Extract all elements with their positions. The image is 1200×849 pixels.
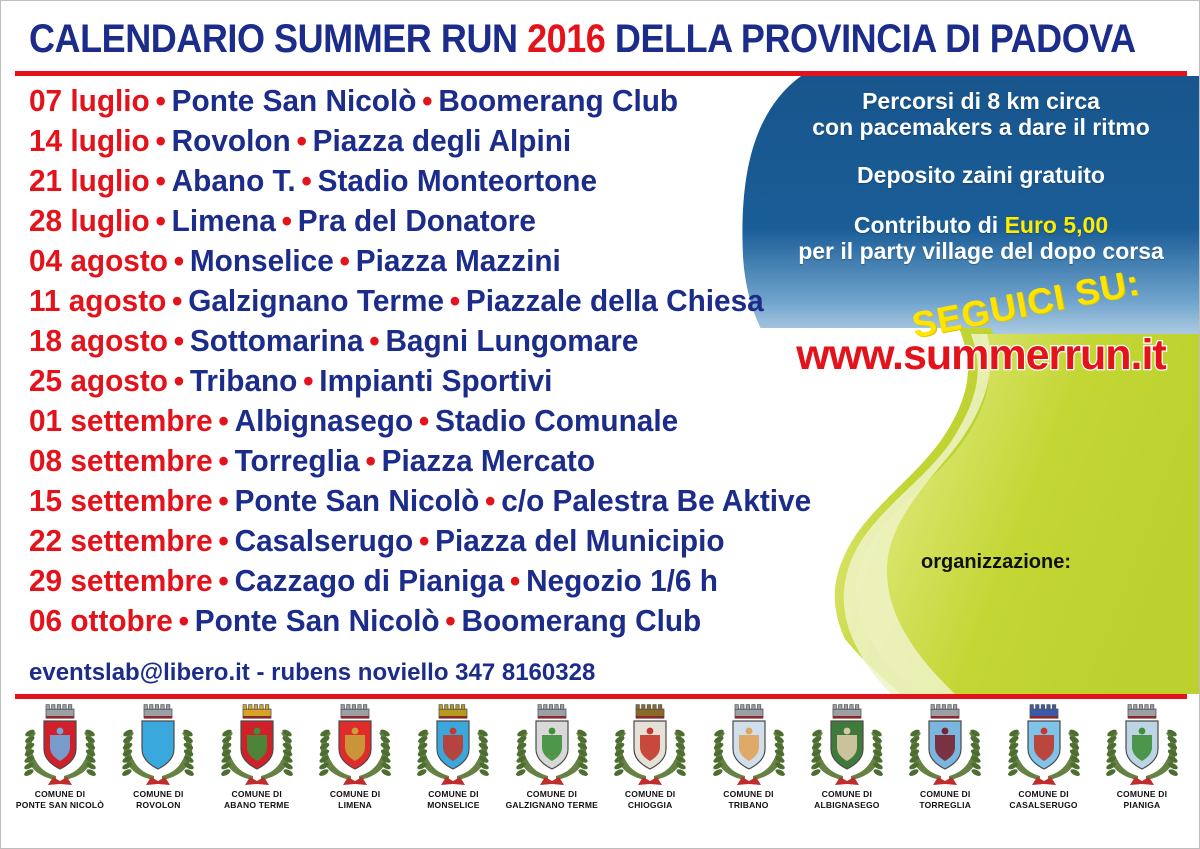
coat-of-arms-icon <box>807 701 887 787</box>
event-venue: Bagni Lungomare <box>385 323 638 358</box>
crest-caption: COMUNE DICASALSERUGO <box>1009 789 1077 810</box>
bullet-separator-icon: • <box>413 523 435 558</box>
crest-caption-name: GALZIGNANO TERME <box>506 800 598 811</box>
event-venue: c/o Palestra Be Aktive <box>501 483 811 518</box>
crest-caption: COMUNE DIALBIGNASEGO <box>814 789 879 810</box>
event-town: Casalserugo <box>235 523 414 558</box>
event-date: 29 settembre <box>29 563 213 598</box>
crest-caption: COMUNE DIPONTE SAN NICOLÒ <box>16 789 104 810</box>
crest-item: COMUNE DIPIANIGA <box>1095 701 1189 810</box>
divider-top <box>15 71 1187 76</box>
event-list: 07 luglio•Ponte San Nicolò•Boomerang Clu… <box>29 81 829 641</box>
event-town: Cazzago di Pianiga <box>235 563 505 598</box>
title-year: 2016 <box>527 17 605 61</box>
event-date: 15 settembre <box>29 483 213 518</box>
event-row: 22 settembre•Casalserugo•Piazza del Muni… <box>29 521 797 561</box>
info-line-2: con pacemakers a dare il ritmo <box>771 115 1191 141</box>
event-row: 15 settembre•Ponte San Nicolò•c/o Palest… <box>29 481 797 521</box>
info-line-3-block: Deposito zaini gratuito <box>771 163 1191 189</box>
bullet-separator-icon: • <box>360 443 382 478</box>
event-venue: Boomerang Club <box>461 603 701 638</box>
crest-caption: COMUNE DIGALZIGNANO TERME <box>506 789 598 810</box>
event-town: Torreglia <box>235 443 360 478</box>
event-town: Abano T. <box>172 163 296 198</box>
coat-of-arms-icon <box>512 701 592 787</box>
event-row: 25 agosto•Tribano•Impianti Sportivi <box>29 361 797 401</box>
event-venue: Stadio Comunale <box>435 403 678 438</box>
bullet-separator-icon: • <box>334 243 356 278</box>
crest-caption-prefix: COMUNE DI <box>506 789 598 800</box>
crest-item: COMUNE DITORREGLIA <box>898 701 992 810</box>
bullet-separator-icon: • <box>213 483 235 518</box>
event-date: 22 settembre <box>29 523 213 558</box>
crest-caption-name: MONSELICE <box>427 800 479 811</box>
bullet-separator-icon: • <box>504 563 526 598</box>
info-line-1: Percorsi di 8 km circa <box>771 89 1191 115</box>
crest-caption-name: CASALSERUGO <box>1009 800 1077 811</box>
bullet-separator-icon: • <box>166 283 188 318</box>
crest-caption: COMUNE DITORREGLIA <box>919 789 971 810</box>
event-town: Galzignano Terme <box>188 283 444 318</box>
bullet-separator-icon: • <box>213 563 235 598</box>
event-venue: Piazza Mercato <box>382 443 595 478</box>
crest-caption-prefix: COMUNE DI <box>814 789 879 800</box>
bullet-separator-icon: • <box>168 243 190 278</box>
crest-item: COMUNE DIPONTE SAN NICOLÒ <box>13 701 107 810</box>
event-venue: Boomerang Club <box>438 83 678 118</box>
crest-item: COMUNE DICASALSERUGO <box>997 701 1091 810</box>
divider-bottom <box>15 694 1187 699</box>
bullet-separator-icon: • <box>444 283 466 318</box>
event-town: Ponte San Nicolò <box>195 603 440 638</box>
crest-item: COMUNE DICHIOGGIA <box>603 701 697 810</box>
crest-caption-prefix: COMUNE DI <box>1009 789 1077 800</box>
coat-of-arms-icon <box>217 701 297 787</box>
crest-item: COMUNE DIGALZIGNANO TERME <box>505 701 599 810</box>
crest-caption-name: TORREGLIA <box>919 800 971 811</box>
crest-caption: COMUNE DICHIOGGIA <box>625 789 675 810</box>
crest-item: COMUNE DIALBIGNASEGO <box>800 701 894 810</box>
bullet-separator-icon: • <box>150 203 172 238</box>
bullet-separator-icon: • <box>213 523 235 558</box>
event-date: 07 luglio <box>29 83 150 118</box>
title-part-1: CALENDARIO SUMMER RUN <box>29 17 527 61</box>
bullet-separator-icon: • <box>150 83 172 118</box>
event-town: Albignasego <box>235 403 414 438</box>
event-town: Ponte San Nicolò <box>172 83 417 118</box>
crest-caption-name: ALBIGNASEGO <box>814 800 879 811</box>
event-venue: Piazza degli Alpini <box>313 123 572 158</box>
event-row: 04 agosto•Monselice•Piazza Mazzini <box>29 241 797 281</box>
crest-caption-name: ROVOLON <box>133 800 183 811</box>
coat-of-arms-icon <box>20 701 100 787</box>
crest-caption: COMUNE DIPIANIGA <box>1117 789 1167 810</box>
event-row: 08 settembre•Torreglia•Piazza Mercato <box>29 441 797 481</box>
event-row: 21 luglio•Abano T.•Stadio Monteortone <box>29 161 797 201</box>
event-date: 04 agosto <box>29 243 168 278</box>
coat-of-arms-icon <box>118 701 198 787</box>
crest-caption-prefix: COMUNE DI <box>133 789 183 800</box>
bullet-separator-icon: • <box>296 163 318 198</box>
event-venue: Impianti Sportivi <box>319 363 552 398</box>
crest-caption-name: ABANO TERME <box>224 800 289 811</box>
crest-item: COMUNE DIMONSELICE <box>406 701 500 810</box>
event-row: 14 luglio•Rovolon•Piazza degli Alpini <box>29 121 797 161</box>
bullet-separator-icon: • <box>150 123 172 158</box>
event-town: Limena <box>172 203 276 238</box>
crest-caption-prefix: COMUNE DI <box>16 789 104 800</box>
crest-item: COMUNE DITRIBANO <box>702 701 796 810</box>
event-date: 14 luglio <box>29 123 150 158</box>
bullet-separator-icon: • <box>213 403 235 438</box>
info-line-5: per il party village del dopo corsa <box>771 239 1191 265</box>
poster-root: CALENDARIO SUMMER RUN 2016 DELLA PROVINC… <box>0 0 1200 849</box>
event-venue: Stadio Monteortone <box>318 163 597 198</box>
event-date: 25 agosto <box>29 363 168 398</box>
crest-caption-prefix: COMUNE DI <box>330 789 380 800</box>
crest-item: COMUNE DILIMENA <box>308 701 402 810</box>
event-town: Monselice <box>190 243 334 278</box>
crest-caption: COMUNE DIMONSELICE <box>427 789 479 810</box>
event-venue: Negozio 1/6 h <box>526 563 718 598</box>
info-fee-amount: Euro 5,00 <box>1005 212 1109 238</box>
coat-of-arms-icon <box>315 701 395 787</box>
event-date: 11 agosto <box>29 283 166 318</box>
bullet-separator-icon: • <box>168 323 190 358</box>
organizer-label: organizzazione: <box>831 551 1161 574</box>
info-line-1-block: Percorsi di 8 km circa con pacemakers a … <box>771 89 1191 141</box>
coat-of-arms-icon <box>1102 701 1182 787</box>
event-date: 01 settembre <box>29 403 213 438</box>
crest-caption-prefix: COMUNE DI <box>919 789 971 800</box>
bullet-separator-icon: • <box>364 323 386 358</box>
crest-caption-prefix: COMUNE DI <box>224 789 289 800</box>
crest-caption: COMUNE DIROVOLON <box>133 789 183 810</box>
crest-caption-name: TRIBANO <box>723 800 773 811</box>
crest-caption-prefix: COMUNE DI <box>1117 789 1167 800</box>
info-fee-line: Contributo di Euro 5,00 <box>771 213 1191 239</box>
event-venue: Pra del Donatore <box>298 203 536 238</box>
coat-of-arms-icon <box>905 701 985 787</box>
info-fee-prefix: Contributo di <box>854 212 1005 238</box>
event-date: 18 agosto <box>29 323 168 358</box>
bullet-separator-icon: • <box>479 483 501 518</box>
bullet-separator-icon: • <box>297 363 319 398</box>
crest-caption-name: PONTE SAN NICOLÒ <box>16 800 104 811</box>
bullet-separator-icon: • <box>440 603 462 638</box>
event-row: 28 luglio•Limena•Pra del Donatore <box>29 201 797 241</box>
crest-caption: COMUNE DIABANO TERME <box>224 789 289 810</box>
event-date: 21 luglio <box>29 163 150 198</box>
crest-item: COMUNE DIROVOLON <box>111 701 205 810</box>
event-venue: Piazza del Municipio <box>435 523 724 558</box>
coat-of-arms-icon <box>413 701 493 787</box>
event-town: Sottomarina <box>190 323 364 358</box>
page-title: CALENDARIO SUMMER RUN 2016 DELLA PROVINC… <box>29 17 1136 62</box>
event-row: 18 agosto•Sottomarina•Bagni Lungomare <box>29 321 797 361</box>
event-date: 28 luglio <box>29 203 150 238</box>
info-line-3: Deposito zaini gratuito <box>771 163 1191 189</box>
coat-of-arms-icon <box>1004 701 1084 787</box>
info-fee-block: Contributo di Euro 5,00 per il party vil… <box>771 213 1191 265</box>
event-row: 06 ottobre•Ponte San Nicolò•Boomerang Cl… <box>29 601 797 641</box>
event-row: 07 luglio•Ponte San Nicolò•Boomerang Clu… <box>29 81 797 121</box>
event-date: 08 settembre <box>29 443 213 478</box>
crest-caption-prefix: COMUNE DI <box>625 789 675 800</box>
event-town: Tribano <box>190 363 297 398</box>
event-row: 29 settembre•Cazzago di Pianiga•Negozio … <box>29 561 797 601</box>
contact-line[interactable]: eventslab@libero.it - rubens noviello 34… <box>29 659 595 687</box>
bullet-separator-icon: • <box>291 123 313 158</box>
crest-caption-prefix: COMUNE DI <box>723 789 773 800</box>
bullet-separator-icon: • <box>276 203 298 238</box>
crest-caption-name: CHIOGGIA <box>625 800 675 811</box>
event-row: 01 settembre•Albignasego•Stadio Comunale <box>29 401 797 441</box>
event-row: 11 agosto•Galzignano Terme•Piazzale dell… <box>29 281 797 321</box>
crest-caption-name: LIMENA <box>330 800 380 811</box>
crest-caption: COMUNE DITRIBANO <box>723 789 773 810</box>
poster-header: CALENDARIO SUMMER RUN 2016 DELLA PROVINC… <box>1 1 1200 73</box>
municipality-crest-strip: COMUNE DIPONTE SAN NICOLÒCOMUNE DIROVOLO… <box>9 701 1193 841</box>
crest-caption-name: PIANIGA <box>1117 800 1167 811</box>
event-date: 06 ottobre <box>29 603 173 638</box>
bullet-separator-icon: • <box>168 363 190 398</box>
bullet-separator-icon: • <box>150 163 172 198</box>
event-venue: Piazza Mazzini <box>356 243 561 278</box>
event-venue: Piazzale della Chiesa <box>466 283 764 318</box>
coat-of-arms-icon <box>709 701 789 787</box>
event-town: Rovolon <box>172 123 291 158</box>
bullet-separator-icon: • <box>416 83 438 118</box>
bullet-separator-icon: • <box>413 403 435 438</box>
bullet-separator-icon: • <box>213 443 235 478</box>
crest-caption-prefix: COMUNE DI <box>427 789 479 800</box>
crest-caption: COMUNE DILIMENA <box>330 789 380 810</box>
coat-of-arms-icon <box>610 701 690 787</box>
crest-item: COMUNE DIABANO TERME <box>210 701 304 810</box>
title-part-2: DELLA PROVINCIA DI PADOVA <box>605 17 1135 61</box>
bullet-separator-icon: • <box>173 603 195 638</box>
event-town: Ponte San Nicolò <box>235 483 480 518</box>
